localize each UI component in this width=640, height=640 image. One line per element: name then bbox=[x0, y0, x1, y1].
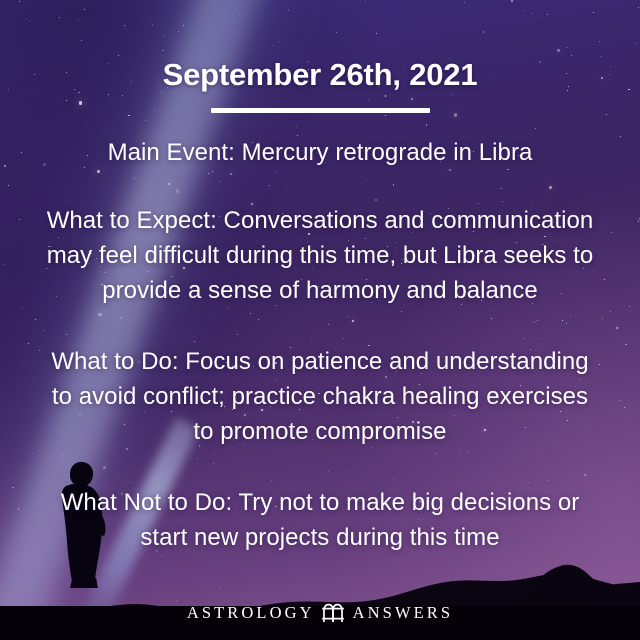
astrology-answers-monogram-icon bbox=[320, 600, 346, 626]
brand-word-right: ANSWERS bbox=[353, 605, 454, 622]
title-divider-wrap bbox=[40, 108, 600, 113]
what-to-do-text: What to Do: Focus on patience and unders… bbox=[40, 344, 600, 449]
what-to-expect-text: What to Expect: Conversations and commun… bbox=[40, 203, 600, 308]
brand-logo: ASTROLOGY ANSWERS bbox=[0, 600, 640, 626]
card-content: September 26th, 2021 Main Event: Mercury… bbox=[0, 0, 640, 640]
page-title: September 26th, 2021 bbox=[40, 0, 600, 92]
title-divider bbox=[211, 108, 430, 113]
main-event-text: Main Event: Mercury retrograde in Libra bbox=[40, 135, 600, 170]
brand-word-left: ASTROLOGY bbox=[187, 605, 315, 622]
astrology-answers-card: September 26th, 2021 Main Event: Mercury… bbox=[0, 0, 640, 640]
what-not-to-do-text: What Not to Do: Try not to make big deci… bbox=[40, 485, 600, 555]
